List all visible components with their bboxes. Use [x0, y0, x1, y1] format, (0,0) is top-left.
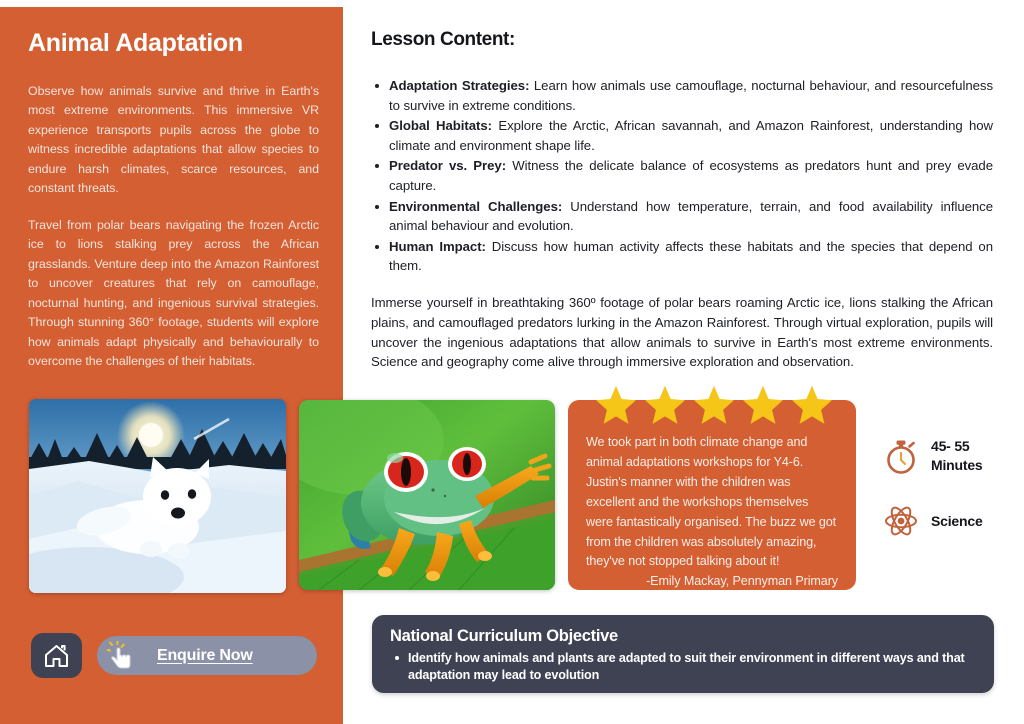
- rating-stars: [594, 384, 834, 418]
- list-item: Global Habitats: Explore the Arctic, Afr…: [371, 116, 993, 155]
- lesson-content-heading: Lesson Content:: [371, 29, 993, 51]
- testimonial-quote: We took part in both climate change and …: [586, 433, 838, 572]
- subject-label: Science: [931, 512, 983, 531]
- lesson-meta: 45- 55 Minutes Science: [884, 437, 1024, 538]
- curriculum-title: National Curriculum Objective: [390, 627, 974, 646]
- enquire-now-label: Enquire Now: [157, 647, 253, 665]
- star-icon: [643, 384, 687, 426]
- lesson-plan-page: Animal Adaptation Observe how animals su…: [0, 0, 1024, 724]
- page-title: Animal Adaptation: [28, 29, 319, 58]
- stopwatch-icon: [884, 438, 918, 474]
- star-icon: [790, 384, 834, 426]
- left-orange-panel: Animal Adaptation Observe how animals su…: [0, 7, 343, 724]
- bullet-term: Environmental Challenges:: [389, 199, 562, 214]
- intro-paragraph-2: Travel from polar bears navigating the f…: [28, 216, 319, 372]
- duration-unit: Minutes: [931, 456, 983, 475]
- bullet-term: Adaptation Strategies:: [389, 78, 529, 93]
- intro-paragraph-1: Observe how animals survive and thrive i…: [28, 82, 319, 199]
- tree-frog-illustration: [299, 400, 555, 590]
- red-eyed-tree-frog-photo: [299, 400, 555, 590]
- enquire-now-button[interactable]: Enquire Now: [97, 636, 317, 675]
- list-item: Identify how animals and plants are adap…: [390, 650, 974, 683]
- home-icon: [43, 643, 70, 669]
- star-icon: [692, 384, 736, 426]
- list-item: Adaptation Strategies: Learn how animals…: [371, 76, 993, 115]
- national-curriculum-objective-box: National Curriculum Objective Identify h…: [372, 615, 994, 693]
- atom-icon: [884, 504, 918, 538]
- home-button[interactable]: [31, 633, 82, 678]
- lesson-content-section: Lesson Content: Adaptation Strategies: L…: [371, 29, 993, 372]
- duration-row: 45- 55 Minutes: [884, 437, 1024, 475]
- testimonial-card: We took part in both climate change and …: [568, 400, 856, 590]
- list-item: Human Impact: Discuss how human activity…: [371, 237, 993, 276]
- arctic-fox-illustration: [29, 399, 286, 593]
- click-hand-icon: [107, 641, 137, 671]
- list-item: Environmental Challenges: Understand how…: [371, 197, 993, 236]
- list-item: Predator vs. Prey: Witness the delicate …: [371, 156, 993, 195]
- subject-row: Science: [884, 504, 1024, 538]
- curriculum-objectives-list: Identify how animals and plants are adap…: [390, 650, 974, 683]
- arctic-fox-photo: [29, 399, 286, 593]
- star-icon: [594, 384, 638, 426]
- lesson-summary-paragraph: Immerse yourself in breathtaking 360º fo…: [371, 293, 993, 372]
- duration-value: 45- 55: [931, 437, 983, 456]
- lesson-content-list: Adaptation Strategies: Learn how animals…: [371, 76, 993, 276]
- bullet-term: Global Habitats:: [389, 118, 492, 133]
- bullet-term: Predator vs. Prey:: [389, 158, 506, 173]
- bullet-term: Human Impact:: [389, 239, 486, 254]
- testimonial-attribution: -Emily Mackay, Pennyman Primary: [586, 572, 838, 592]
- star-icon: [741, 384, 785, 426]
